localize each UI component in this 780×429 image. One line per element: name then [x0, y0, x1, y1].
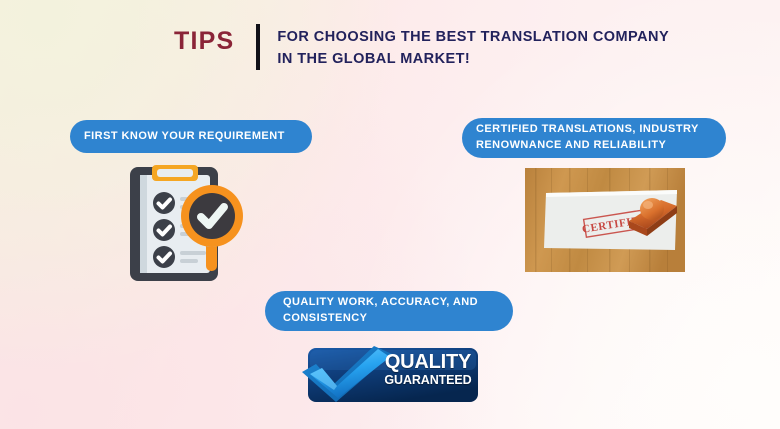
- clipboard-clip-inner: [157, 169, 193, 177]
- pill-quality-work-accuracy-consistency[interactable]: QUALITY WORK, ACCURACY, AND CONSISTENCY: [265, 291, 513, 331]
- checklist-line-3b: [180, 259, 198, 263]
- pill-label: QUALITY WORK, ACCURACY, AND CONSISTENCY: [283, 295, 478, 327]
- badge-line-guaranteed: GUARANTEED: [380, 373, 476, 387]
- pill-certified-translations[interactable]: CERTIFIED TRANSLATIONS, INDUSTRY RENOWNA…: [462, 118, 726, 158]
- clipboard-checklist-magnifier-icon: [124, 163, 264, 285]
- infographic-canvas: TIPS FOR CHOOSING THE BEST TRANSLATION C…: [0, 0, 780, 429]
- clipboard-svg: [124, 163, 264, 285]
- clipboard-paper-shade: [140, 175, 147, 273]
- badge-text: QUALITY GUARANTEED: [380, 352, 476, 387]
- page-title: FOR CHOOSING THE BEST TRANSLATION COMPAN…: [277, 24, 669, 70]
- checklist-line-3a: [180, 251, 206, 255]
- pill-label: FIRST KNOW YOUR REQUIREMENT: [84, 129, 285, 145]
- certified-photo-svg: CERTIFIED: [525, 168, 685, 272]
- header-divider: [256, 24, 260, 70]
- quality-guaranteed-badge: QUALITY GUARANTEED: [300, 346, 480, 404]
- certified-stamp-photo: CERTIFIED: [525, 168, 685, 272]
- stamp-knob-highlight: [643, 201, 653, 209]
- badge-line-quality: QUALITY: [380, 352, 476, 373]
- pill-first-know-your-requirement[interactable]: FIRST KNOW YOUR REQUIREMENT: [70, 120, 312, 153]
- tips-label: TIPS: [174, 24, 234, 54]
- stamp-knob: [640, 198, 664, 220]
- pill-label: CERTIFIED TRANSLATIONS, INDUSTRY RENOWNA…: [476, 122, 699, 154]
- header: TIPS FOR CHOOSING THE BEST TRANSLATION C…: [174, 24, 669, 70]
